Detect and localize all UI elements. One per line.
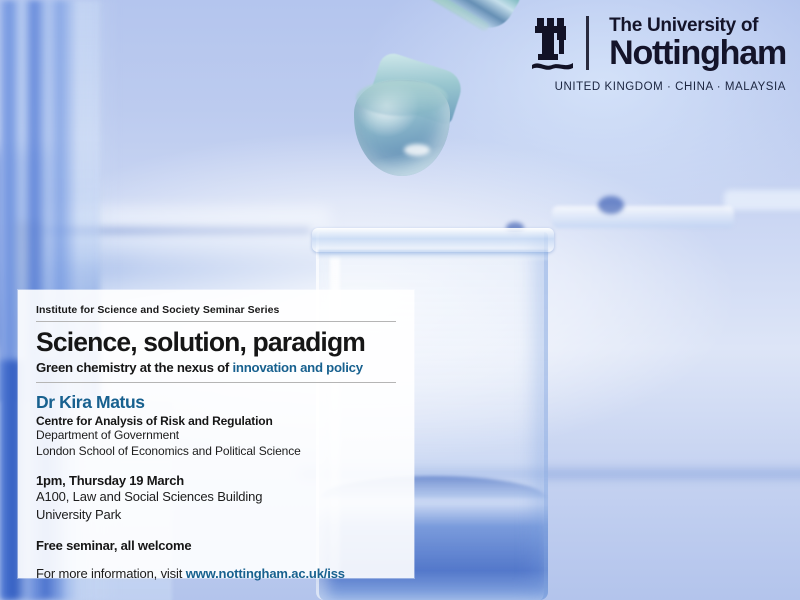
nottingham-castle-icon xyxy=(531,14,575,72)
seminar-subtitle: Green chemistry at the nexus of innovati… xyxy=(36,360,396,375)
beaker-front-rim-inner xyxy=(318,250,548,260)
more-information-prefix: For more information, visit xyxy=(36,566,186,581)
more-information: For more information, visit www.nottingh… xyxy=(36,566,396,581)
logo-divider xyxy=(586,16,589,70)
website-link[interactable]: www.nottingham.ac.uk/iss xyxy=(186,566,345,581)
seminar-subtitle-plain: Green chemistry at the nexus of xyxy=(36,360,232,375)
pipette-green-tint xyxy=(254,0,490,32)
pipette-dropper xyxy=(258,0,478,184)
beaker-back-rim xyxy=(724,190,800,210)
speaker-department: Department of Government xyxy=(36,428,396,444)
droplet-rim xyxy=(356,80,448,116)
speaker-institution: London School of Economics and Political… xyxy=(36,444,396,460)
droplet-specular xyxy=(404,144,430,156)
beaker-middle-rim xyxy=(552,206,734,228)
seminar-admission: Free seminar, all welcome xyxy=(36,538,396,553)
seminar-datetime: 1pm, Thursday 19 March xyxy=(36,473,396,488)
logo-line-nottingham: Nottingham xyxy=(609,36,786,70)
divider-top xyxy=(36,321,396,322)
divider-mid xyxy=(36,382,396,383)
beaker-middle-knob-icon xyxy=(598,196,624,214)
seminar-venue-room: A100, Law and Social Sciences Building xyxy=(36,488,396,505)
speaker-name: Dr Kira Matus xyxy=(36,392,396,412)
logo-line-the-university-of: The University of xyxy=(609,16,786,35)
seminar-subtitle-highlight: innovation and policy xyxy=(232,360,362,375)
seminar-venue-campus: University Park xyxy=(36,506,396,523)
seminar-title: Science, solution, paradigm xyxy=(36,329,396,357)
university-logo: The University of Nottingham UNITED KING… xyxy=(531,14,786,93)
logo-campuses: UNITED KINGDOM · CHINA · MALAYSIA xyxy=(531,81,786,93)
seminar-series-label: Institute for Science and Society Semina… xyxy=(36,304,396,321)
beaker-front-rim xyxy=(312,228,554,252)
seminar-info-panel: Institute for Science and Society Semina… xyxy=(18,290,414,578)
speaker-centre: Centre for Analysis of Risk and Regulati… xyxy=(36,414,396,428)
